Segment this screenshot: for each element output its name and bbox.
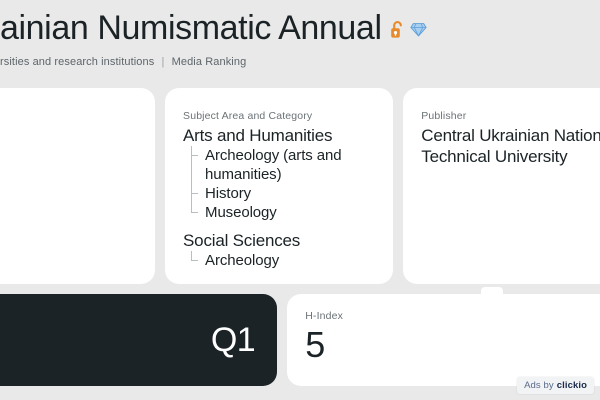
open-access-icon[interactable] <box>390 20 405 44</box>
ads-brand: clickio <box>557 380 587 391</box>
hindex-label: H-Index <box>305 310 600 322</box>
page-title: ainian Numismatic Annual <box>0 6 382 50</box>
publisher-label: Publisher <box>421 110 600 122</box>
subject-category-item[interactable]: Museology <box>191 203 375 222</box>
cards-area: SCIMAGO INSTITUTIONS RANKINGS go Ranking… <box>0 88 600 396</box>
subject-group-arts: Arts and Humanities Archeology (arts and… <box>183 125 375 222</box>
card-hindex[interactable]: H-Index 5 <box>287 294 600 386</box>
subject-area-inner: Subject Area and Category Arts and Human… <box>165 88 393 292</box>
ads-prefix: Ads by <box>524 380 554 391</box>
subject-heading[interactable]: Social Sciences <box>183 230 375 251</box>
subtitle-scope: rsities and research institutions <box>0 56 154 68</box>
page-content: ainian Numismatic Annual <box>0 0 600 396</box>
subtitle-ranking-type: Media Ranking <box>172 56 247 68</box>
card-subject-area[interactable]: Subject Area and Category Arts and Human… <box>165 88 393 284</box>
card-publisher[interactable]: Publisher Central Ukrainian National Tec… <box>403 88 600 284</box>
scimago-ranking-inner: SCIMAGO INSTITUTIONS RANKINGS go Ranking… <box>0 88 155 284</box>
diamond-icon[interactable] <box>410 21 427 43</box>
card-notch <box>481 287 503 297</box>
publisher-name[interactable]: Central Ukrainian National Technical Uni… <box>421 125 600 167</box>
subject-category-list: Archeology <box>183 251 375 270</box>
hindex-value: 5 <box>305 325 600 365</box>
quartile-value: Q1 <box>211 321 255 360</box>
subject-heading[interactable]: Arts and Humanities <box>183 125 375 146</box>
subtitle-separator: | <box>157 56 168 68</box>
card-row-metrics: 05 Q1 H-Index 5 <box>0 294 600 396</box>
page-header: ainian Numismatic Annual <box>0 0 600 88</box>
card-scimago-ranking[interactable]: SCIMAGO INSTITUTIONS RANKINGS go Ranking… <box>0 88 155 284</box>
card-quartile[interactable]: 05 Q1 <box>0 294 277 386</box>
page-subtitle: rsities and research institutions | Medi… <box>0 56 600 68</box>
ads-attribution-badge[interactable]: Ads by clickio <box>517 377 594 394</box>
subject-group-social: Social Sciences Archeology <box>183 230 375 270</box>
subject-category-item[interactable]: Archeology <box>191 251 375 270</box>
subject-category-item[interactable]: History <box>191 184 375 203</box>
card-row-primary: SCIMAGO INSTITUTIONS RANKINGS go Ranking… <box>0 88 600 294</box>
publisher-inner: Publisher Central Ukrainian National Tec… <box>403 88 600 189</box>
title-badges <box>390 13 427 44</box>
page-viewport: ainian Numismatic Annual <box>0 0 600 400</box>
subject-category-item[interactable]: Archeology (arts and humanities) <box>191 146 375 184</box>
title-row: ainian Numismatic Annual <box>0 6 600 50</box>
subject-area-label: Subject Area and Category <box>183 110 375 122</box>
subject-category-list: Archeology (arts and humanities) History… <box>183 146 375 222</box>
